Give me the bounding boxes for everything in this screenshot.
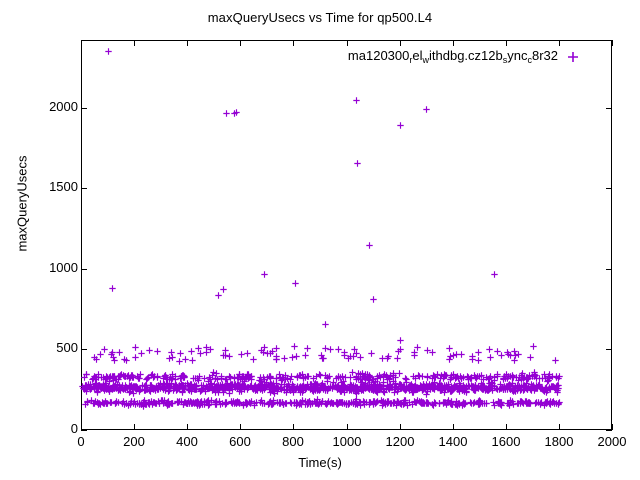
- x-tick: [559, 424, 560, 430]
- x-tick: [187, 424, 188, 430]
- x-tick-top: [612, 40, 613, 46]
- x-tick-label: 800: [263, 434, 323, 449]
- gnuplot-scatter-chart: maxQueryUsecs vs Time for qp500.L4 maxQu…: [0, 0, 640, 480]
- x-tick: [612, 424, 613, 430]
- x-tick-label: 1400: [423, 434, 483, 449]
- x-tick-top: [559, 40, 560, 46]
- legend-plus-marker-icon: [566, 50, 580, 64]
- y-tick-right: [606, 430, 612, 431]
- x-tick: [453, 424, 454, 430]
- x-tick-label: 200: [104, 434, 164, 449]
- x-tick-label: 2000: [582, 434, 640, 449]
- x-tick: [400, 424, 401, 430]
- x-tick-label: 600: [210, 434, 270, 449]
- y-tick-right: [606, 188, 612, 189]
- y-tick-right: [606, 269, 612, 270]
- x-tick-label: 1200: [370, 434, 430, 449]
- y-tick-label: 1500: [0, 179, 86, 194]
- x-tick: [347, 424, 348, 430]
- y-tick-right: [606, 349, 612, 350]
- x-tick-label: 1000: [317, 434, 377, 449]
- y-axis-label: maxQueryUsecs: [15, 134, 30, 274]
- x-tick-top: [347, 40, 348, 46]
- y-tick-right: [606, 108, 612, 109]
- x-tick-top: [453, 40, 454, 46]
- x-tick-top: [506, 40, 507, 46]
- x-tick: [506, 424, 507, 430]
- x-tick: [293, 424, 294, 430]
- y-tick-label: 2000: [0, 99, 86, 114]
- x-tick-top: [240, 40, 241, 46]
- x-tick: [240, 424, 241, 430]
- x-tick-top: [187, 40, 188, 46]
- legend-series-label: ma120300relwithdbg.cz12bsyncc8r32: [200, 48, 558, 63]
- x-axis-label: Time(s): [0, 455, 640, 470]
- x-tick-top: [293, 40, 294, 46]
- x-tick-label: 1800: [529, 434, 589, 449]
- plot-area-frame: [81, 40, 612, 430]
- x-tick-top: [400, 40, 401, 46]
- x-tick-label: 1600: [476, 434, 536, 449]
- x-tick-label: 0: [51, 434, 111, 449]
- chart-title: maxQueryUsecs vs Time for qp500.L4: [0, 10, 640, 25]
- y-tick-label: 500: [0, 340, 86, 355]
- x-tick: [134, 424, 135, 430]
- x-tick-top: [81, 40, 82, 46]
- x-tick-top: [134, 40, 135, 46]
- y-tick-label: 1000: [0, 260, 86, 275]
- x-tick-label: 400: [157, 434, 217, 449]
